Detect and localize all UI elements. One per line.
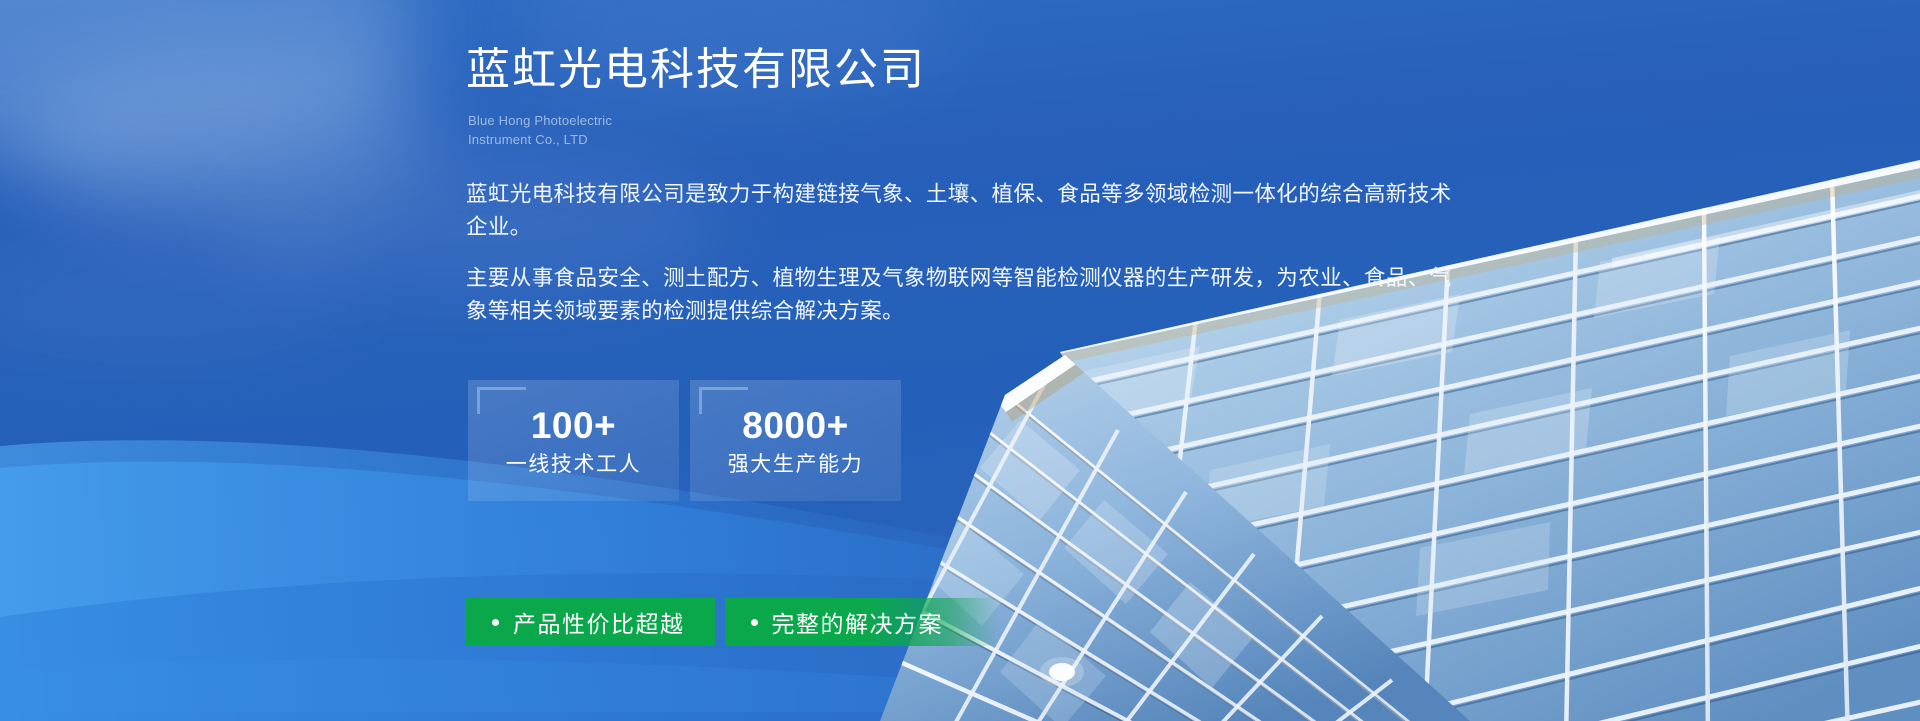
page-title: 蓝虹光电科技有限公司 bbox=[466, 45, 926, 96]
highlights-group: 产品性价比超越 完整的解决方案 bbox=[466, 598, 999, 646]
highlight-label: 产品性价比超越 bbox=[513, 605, 685, 639]
stat-card-capacity: 8000+ 强大生产能力 bbox=[690, 380, 901, 501]
stats-group: 100+ 一线技术工人 8000+ 强大生产能力 bbox=[468, 380, 901, 501]
bullet-dot-icon bbox=[492, 619, 499, 626]
company-name-english: Blue Hong Photoelectric Instrument Co., … bbox=[468, 112, 612, 150]
intro-paragraph-2: 主要从事食品安全、测土配方、植物生理及气象物联网等智能检测仪器的生产研发，为农业… bbox=[466, 262, 1456, 328]
stat-value: 8000+ bbox=[742, 407, 848, 444]
stat-label: 一线技术工人 bbox=[506, 454, 642, 475]
bullet-dot-icon bbox=[751, 619, 758, 626]
stat-value: 100+ bbox=[531, 407, 616, 444]
company-hero-banner: 蓝虹光电科技有限公司 Blue Hong Photoelectric Instr… bbox=[0, 0, 1920, 721]
stat-label: 强大生产能力 bbox=[728, 454, 864, 475]
stat-card-workers: 100+ 一线技术工人 bbox=[468, 380, 679, 501]
company-name-english-line1: Blue Hong Photoelectric bbox=[468, 112, 612, 131]
highlight-pill-value: 产品性价比超越 bbox=[466, 598, 715, 646]
highlight-label: 完整的解决方案 bbox=[772, 605, 944, 639]
hero-content: 蓝虹光电科技有限公司 Blue Hong Photoelectric Instr… bbox=[466, 0, 1516, 721]
company-name-english-line2: Instrument Co., LTD bbox=[468, 131, 612, 150]
intro-paragraph-1: 蓝虹光电科技有限公司是致力于构建链接气象、土壤、植保、食品等多领域检测一体化的综… bbox=[466, 178, 1456, 244]
highlight-pill-solution: 完整的解决方案 bbox=[725, 598, 1000, 646]
